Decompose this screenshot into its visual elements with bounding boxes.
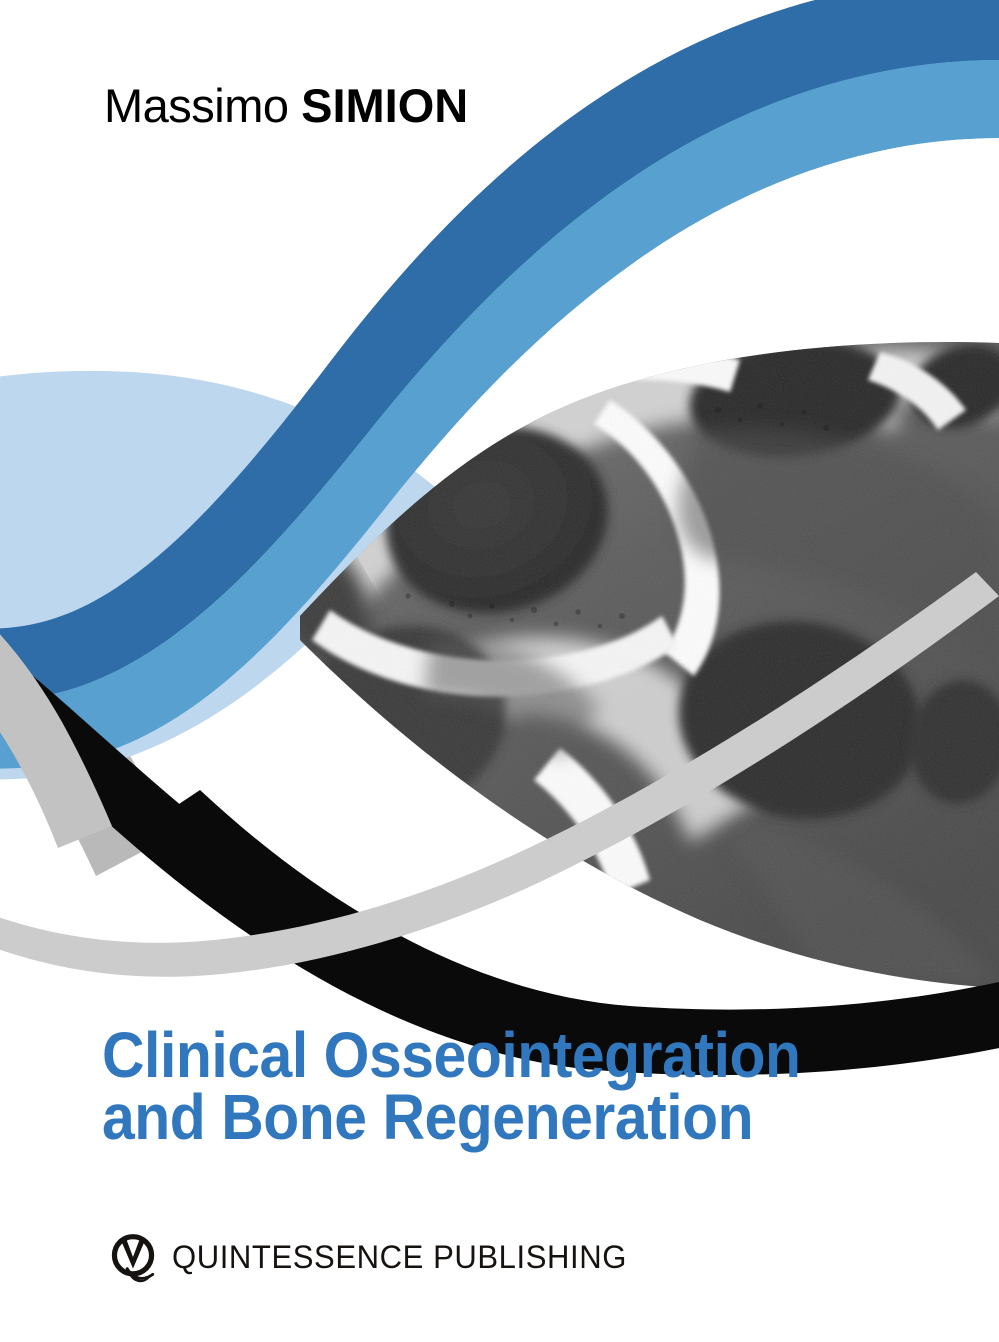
author-name: Massimo SIMION (104, 82, 468, 129)
publisher-logo: QUINTESSENCE PUBLISHING (104, 1226, 641, 1288)
publisher-name: QUINTESSENCE PUBLISHING (172, 1239, 627, 1276)
book-title: Clinical Osseointegration and Bone Regen… (102, 1024, 862, 1148)
book-cover: Massimo SIMION Clinical Osseointegration… (0, 0, 999, 1342)
quintessence-qv-monogram-icon (104, 1228, 162, 1286)
title-line-2: and Bone Regeneration (102, 1086, 801, 1148)
author-first-name: Massimo (104, 79, 301, 132)
title-line-1: Clinical Osseointegration (102, 1024, 801, 1086)
author-last-name: SIMION (301, 79, 468, 132)
